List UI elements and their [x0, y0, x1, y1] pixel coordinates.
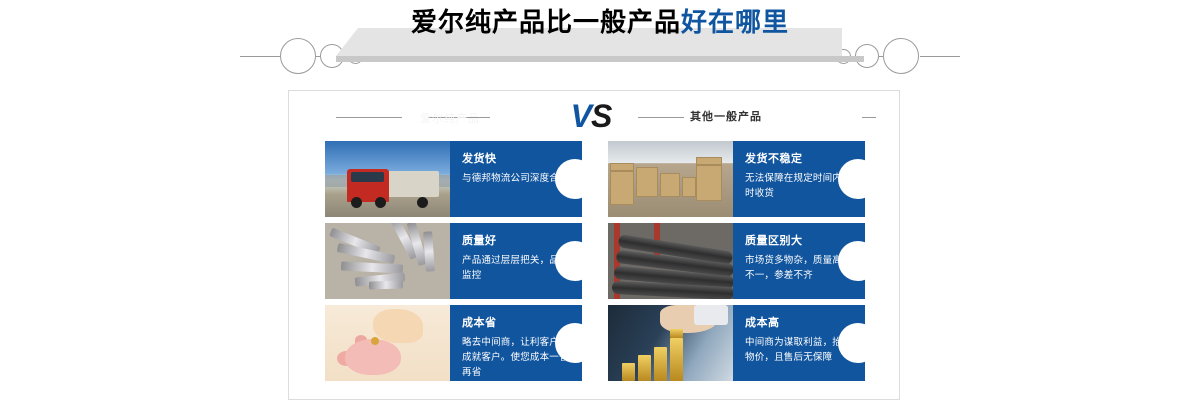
piggy-bank-coin-photo — [325, 305, 450, 381]
vs-rule-right-2 — [862, 117, 876, 118]
card-panel: 发货快 与德邦物流公司深度合作 — [450, 141, 582, 217]
page-title: 爱尔纯产品比一般产品好在哪里 — [0, 0, 1200, 44]
list-item[interactable]: 质量区别大 市场货多物杂，质量高低不一，参差不齐 — [608, 223, 865, 299]
card-photo — [325, 305, 450, 381]
card-desc: 产品通过层层把关，品质监控 — [462, 253, 570, 283]
list-item[interactable]: 发货不稳定 无法保障在规定时间内按时收货 — [608, 141, 865, 217]
vs-row: 爱尔纯产品 VS 其他一般产品 — [288, 96, 900, 140]
metal-tubes-photo — [325, 223, 450, 299]
right-column-label: 其他一般产品 — [690, 108, 762, 124]
card-photo — [608, 141, 733, 217]
card-desc: 略去中间商，让利客户，成就客户。使您成本一省再省 — [462, 335, 570, 380]
list-item[interactable]: 成本高 中间商为谋取利益，抬高物价，且售后无保障 — [608, 305, 865, 381]
card-title: 成本省 — [462, 314, 497, 330]
card-photo — [608, 223, 733, 299]
card-panel: 发货不稳定 无法保障在规定时间内按时收货 — [733, 141, 865, 217]
our-product-column: 发货快 与德邦物流公司深度合作 质量好 产品通过层层把关，品质监控 — [325, 141, 582, 387]
card-photo — [608, 305, 733, 381]
red-truck-on-highway-photo — [325, 141, 450, 217]
card-panel: 质量好 产品通过层层把关，品质监控 — [450, 223, 582, 299]
card-panel: 质量区别大 市场货多物杂，质量高低不一，参差不齐 — [733, 223, 865, 299]
list-item[interactable]: 成本省 略去中间商，让利客户，成就客户。使您成本一省再省 — [325, 305, 582, 381]
card-desc: 与德邦物流公司深度合作 — [462, 171, 570, 186]
card-desc: 中间商为谋取利益，抬高物价，且售后无保障 — [745, 335, 853, 365]
card-desc: 市场货多物杂，质量高低不一，参差不齐 — [745, 253, 853, 283]
vs-letter-s: S — [591, 98, 611, 134]
card-notch — [555, 159, 582, 199]
card-photo — [325, 223, 450, 299]
vs-rule-left-1 — [336, 117, 402, 118]
title-plinth-base — [336, 56, 864, 62]
header-rule-left-outer — [240, 56, 280, 57]
card-title: 质量好 — [462, 232, 497, 248]
page-header: 爱尔纯产品比一般产品好在哪里 — [0, 0, 1200, 86]
left-column-label: 爱尔纯产品 — [420, 110, 530, 126]
card-title: 质量区别大 — [745, 232, 803, 248]
black-pipes-stack-photo — [608, 223, 733, 299]
list-item[interactable]: 质量好 产品通过层层把关，品质监控 — [325, 223, 582, 299]
card-panel: 成本高 中间商为谋取利益，抬高物价，且售后无保障 — [733, 305, 865, 381]
list-item[interactable]: 发货快 与德邦物流公司深度合作 — [325, 141, 582, 217]
card-desc: 无法保障在规定时间内按时收货 — [745, 171, 853, 201]
card-title: 发货不稳定 — [745, 150, 803, 166]
card-panel: 成本省 略去中间商，让利客户，成就客户。使您成本一省再省 — [450, 305, 582, 381]
page-title-main: 爱尔纯产品比一般产品 — [411, 7, 681, 37]
vs-rule-right-1 — [638, 117, 684, 118]
gold-coin-stacks-photo — [608, 305, 733, 381]
card-photo — [325, 141, 450, 217]
card-title: 成本高 — [745, 314, 780, 330]
vs-letter-v: V — [571, 98, 591, 134]
card-title: 发货快 — [462, 150, 497, 166]
other-product-column: 发货不稳定 无法保障在规定时间内按时收货 质量区别大 市场货多物杂，质量高低不一… — [608, 141, 865, 387]
page-title-accent: 好在哪里 — [681, 7, 789, 37]
vs-badge: VS — [556, 96, 626, 136]
warehouse-boxes-photo — [608, 141, 733, 217]
header-rule-right-outer — [920, 56, 960, 57]
